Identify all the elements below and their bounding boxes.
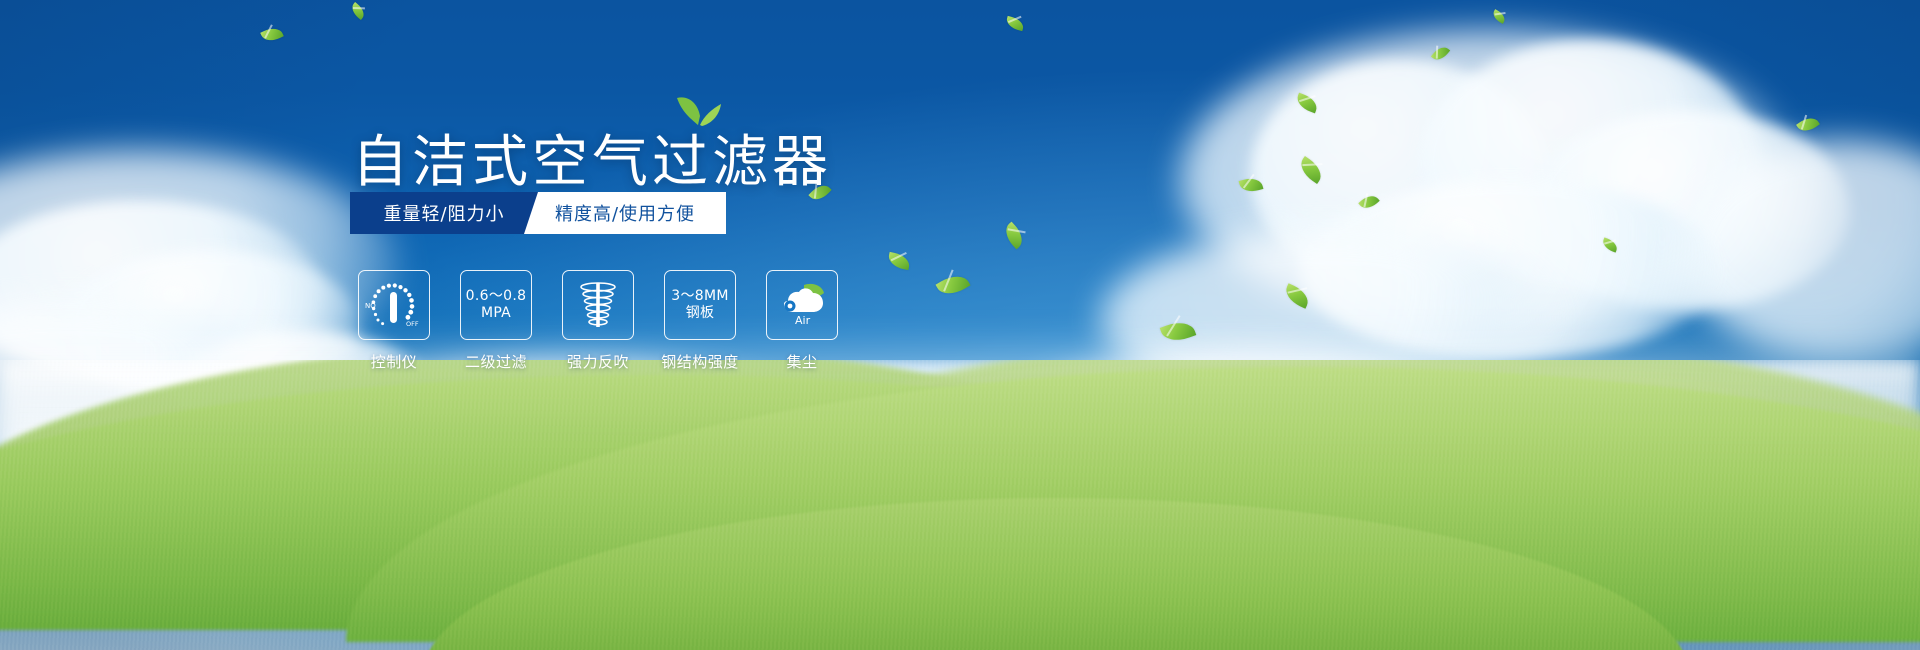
steel-line-1: 3～8MM: [671, 288, 728, 305]
gauge-label-off: OFF: [406, 320, 419, 328]
feature-label-steel: 钢结构强度: [661, 351, 739, 372]
gauge-icon: NO OFF: [363, 277, 425, 333]
feature-item-filtration[interactable]: 0.6～0.8 MPA 二级过滤: [460, 270, 532, 372]
feature-box-steel: 3～8MM 钢板: [664, 270, 736, 340]
feature-label-dust: 集尘: [786, 351, 817, 372]
feature-label-controller: 控制仪: [371, 351, 418, 372]
pressure-text-icon: 0.6～0.8 MPA: [466, 288, 527, 322]
gauge-label-no: NO: [365, 302, 376, 310]
pressure-line-2: MPA: [466, 305, 527, 322]
feature-list: NO OFF 控制仪 0.6～0.8 MPA 二级过滤: [358, 270, 838, 372]
page-title: 自洁式空气过滤器: [352, 117, 832, 198]
tag-secondary: 精度高/使用方便: [524, 192, 726, 234]
feature-box-dust: Air: [766, 270, 838, 340]
feature-box-blowback: [562, 270, 634, 340]
feature-label-filtration: 二级过滤: [465, 351, 527, 372]
feature-item-steel[interactable]: 3～8MM 钢板 钢结构强度: [664, 270, 736, 372]
feature-box-filtration: 0.6～0.8 MPA: [460, 270, 532, 340]
feature-item-blowback[interactable]: 强力反吹: [562, 270, 634, 372]
air-label: Air: [795, 314, 811, 327]
feature-box-controller: NO OFF: [358, 270, 430, 340]
pressure-line-1: 0.6～0.8: [466, 288, 527, 305]
hero-banner: 自洁式空气过滤器 重量轻/阻力小 精度高/使用方便: [0, 0, 1920, 650]
feature-item-controller[interactable]: NO OFF 控制仪: [358, 270, 430, 372]
feature-item-dust[interactable]: Air 集尘: [766, 270, 838, 372]
feature-label-blowback: 强力反吹: [567, 351, 629, 372]
banner-content: 自洁式空气过滤器 重量轻/阻力小 精度高/使用方便: [0, 0, 1920, 650]
cloud-air-icon: Air: [774, 281, 830, 329]
tag-primary: 重量轻/阻力小: [350, 192, 538, 234]
steel-plate-text-icon: 3～8MM 钢板: [671, 288, 728, 322]
filter-coil-icon: [573, 279, 623, 331]
subtitle-tags: 重量轻/阻力小 精度高/使用方便: [350, 192, 726, 234]
steel-line-2: 钢板: [671, 305, 728, 322]
